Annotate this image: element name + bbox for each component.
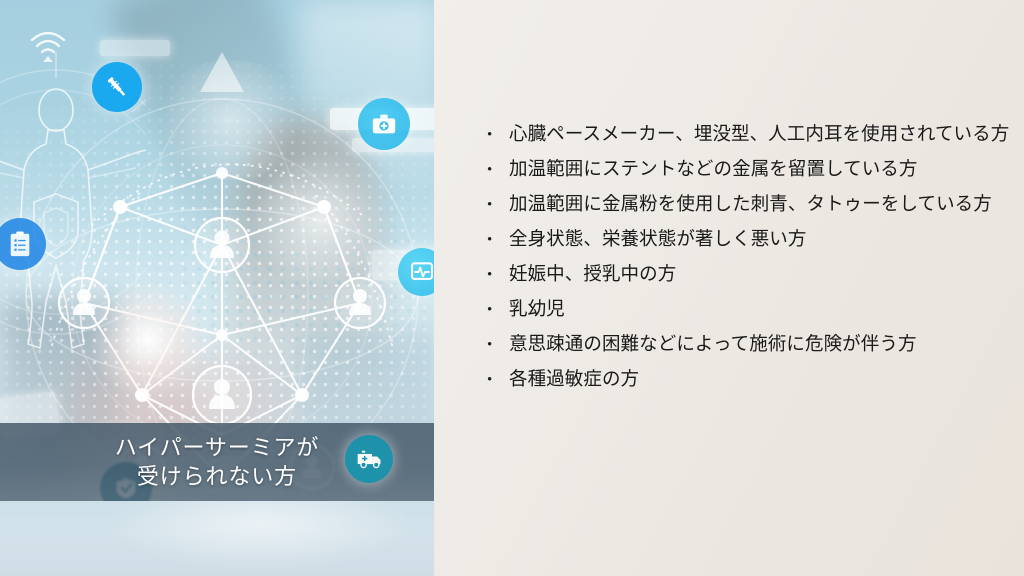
syringe-icon — [92, 62, 142, 112]
list-item-text: 心臓ペースメーカー、埋没型、人工内耳を使用されている方 — [509, 125, 1009, 145]
first-aid-kit-icon — [358, 98, 410, 150]
bullet-marker: • — [487, 328, 492, 363]
ambulance-icon — [345, 435, 393, 483]
bullet-list: • 心臓ペースメーカー、埋没型、人工内耳を使用されている方 • 加温範囲にステン… — [484, 118, 1014, 398]
image-lower-strip — [0, 501, 434, 576]
bullet-marker: • — [487, 293, 492, 328]
list-item: • 各種過敏症の方 — [484, 363, 1014, 398]
caption-line-1: ハイパーサーミアが — [115, 433, 320, 462]
list-item: • 心臓ペースメーカー、埋没型、人工内耳を使用されている方 — [484, 118, 1014, 153]
list-item: • 加温範囲にステントなどの金属を留置している方 — [484, 153, 1014, 188]
bullet-marker: • — [487, 258, 492, 293]
content-panel: • 心臓ペースメーカー、埋没型、人工内耳を使用されている方 • 加温範囲にステン… — [434, 0, 1024, 576]
list-item-text: 意思疎通の困難などによって施術に危険が伴う方 — [509, 335, 917, 355]
list-item-text: 加温範囲にステントなどの金属を留置している方 — [509, 160, 917, 180]
triangle-marker — [200, 52, 244, 92]
list-item: • 妊娠中、授乳中の方 — [484, 258, 1014, 293]
list-item-text: 妊娠中、授乳中の方 — [509, 265, 676, 285]
slide: ハイパーサーミアが 受けられない方 • 心臓ペースメーカー、埋没型、人工内耳を使… — [0, 0, 1024, 576]
bullet-marker: • — [487, 223, 492, 258]
hero-image: ハイパーサーミアが 受けられない方 — [0, 0, 434, 576]
bullet-marker: • — [487, 118, 492, 153]
caption-line-2: 受けられない方 — [137, 462, 297, 491]
bullet-marker: • — [487, 363, 492, 398]
list-item-text: 乳幼児 — [509, 300, 565, 320]
bullet-marker: • — [487, 188, 492, 223]
list-item-text: 加温範囲に金属粉を使用した刺青、タトゥーをしている方 — [509, 195, 992, 215]
bullet-marker: • — [487, 153, 492, 188]
list-item: • 加温範囲に金属粉を使用した刺青、タトゥーをしている方 — [484, 188, 1014, 223]
wifi-icon — [28, 28, 68, 62]
list-item: • 全身状態、栄養状態が著しく悪い方 — [484, 223, 1014, 258]
list-item-text: 各種過敏症の方 — [509, 370, 639, 390]
list-item-text: 全身状態、栄養状態が著しく悪い方 — [509, 230, 806, 250]
list-item: • 意思疎通の困難などによって施術に危険が伴う方 — [484, 328, 1014, 363]
list-item: • 乳幼児 — [484, 293, 1014, 328]
